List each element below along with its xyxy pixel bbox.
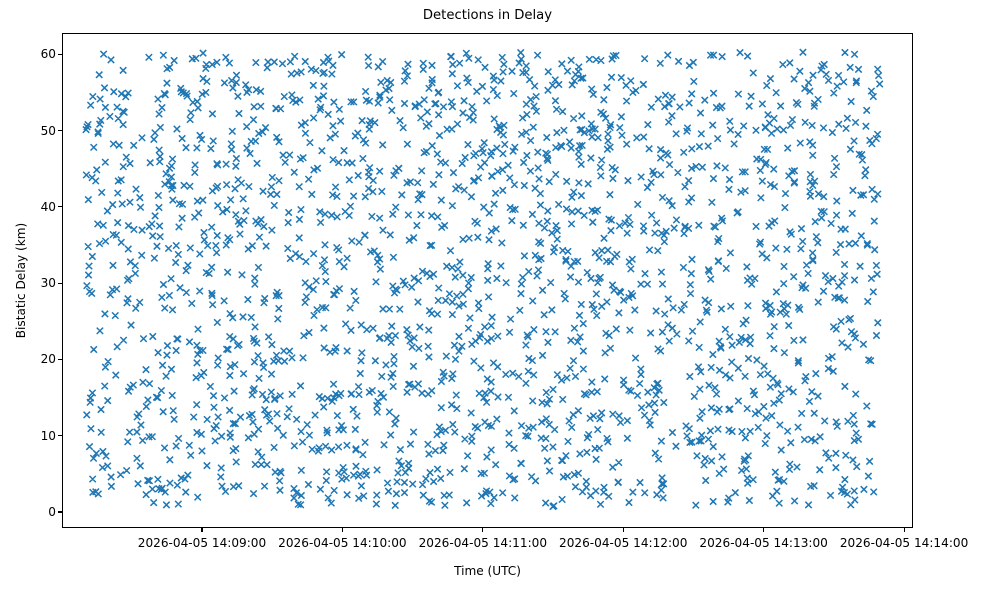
x-axis-tick-label: 2026-04-05 14:10:00 [278, 536, 406, 550]
x-axis-tick-label: 2026-04-05 14:14:00 [840, 536, 968, 550]
y-axis-tick-mark [58, 435, 62, 436]
x-axis-tick-mark [763, 528, 764, 532]
x-axis-tick-mark [342, 528, 343, 532]
x-axis-label: Time (UTC) [62, 564, 913, 578]
x-axis-tick-mark [904, 528, 905, 532]
x-axis-tick-label: 2026-04-05 14:11:00 [419, 536, 547, 550]
x-axis-tick-mark [623, 528, 624, 532]
y-axis-tick-mark [58, 206, 62, 207]
x-axis-tick-label: 2026-04-05 14:12:00 [559, 536, 687, 550]
x-axis-tick-label: 2026-04-05 14:13:00 [699, 536, 827, 550]
x-axis-tick-mark [201, 528, 202, 532]
y-axis-tick-mark [58, 130, 62, 131]
x-axis-tick-label: 2026-04-05 14:09:00 [138, 536, 266, 550]
y-axis-tick-mark [58, 359, 62, 360]
y-axis-tick-mark [58, 283, 62, 284]
x-axis-tick-mark [482, 528, 483, 532]
plot-area[interactable] [62, 33, 913, 528]
y-axis-tick-mark [58, 511, 62, 512]
chart-title: Detections in Delay [62, 8, 913, 24]
figure-canvas: Detections in Delay 0102030405060 Time (… [0, 0, 989, 590]
scatter-series-detections [63, 34, 912, 527]
y-axis-label: Bistatic Delay (km) [12, 33, 30, 528]
scatter-markers [83, 49, 883, 510]
y-axis-tick-mark [58, 54, 62, 55]
